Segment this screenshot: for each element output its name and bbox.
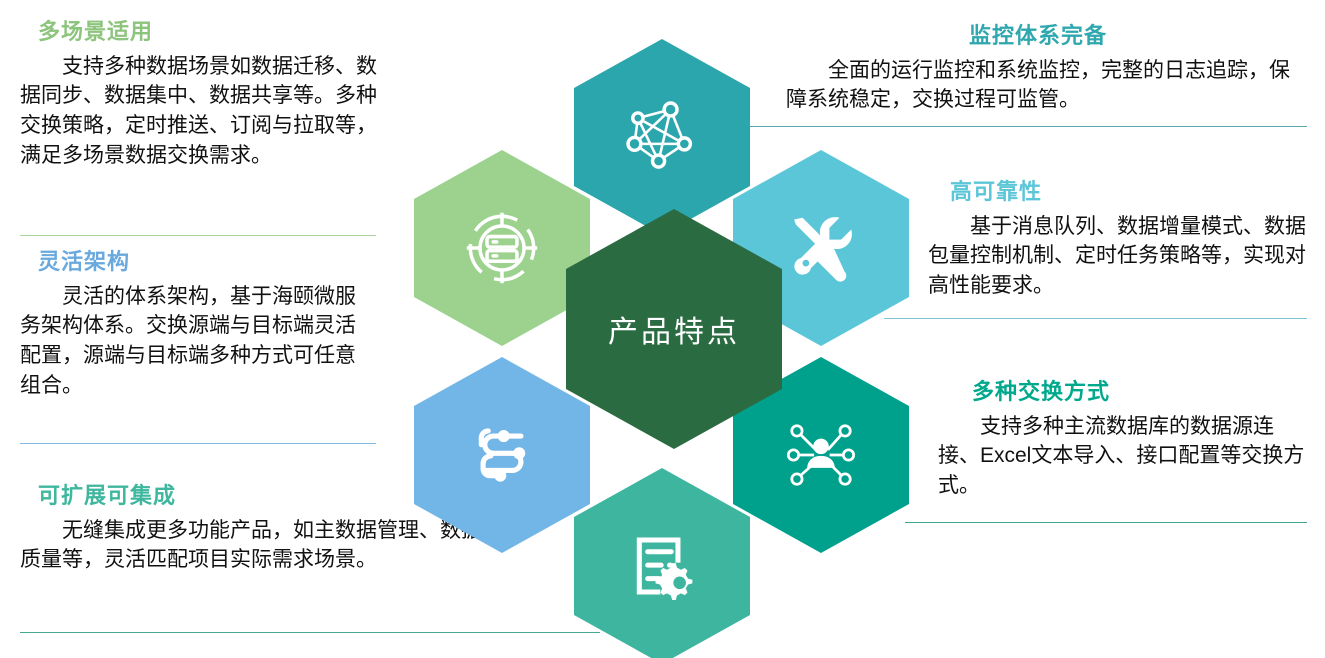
feature-block-multi-scenario: 多场景适用 支持多种数据场景如数据迁移、数据同步、数据集中、数据共享等。多种交换… (20, 18, 380, 171)
feature-body-high-reliability: 基于消息队列、数据增量模式、数据包量控制机制、定时任务策略等，实现对高性能要求。 (928, 212, 1310, 301)
feature-block-monitoring-complete: 监控体系完备 全面的运行监控和系统监控，完整的日志追踪，保障系统稳定，交换过程可… (768, 22, 1308, 115)
feature-block-flexible-architecture: 灵活架构 灵活的体系架构，基于海颐微服务架构体系。交换源端与目标端灵活配置，源端… (20, 248, 370, 401)
feature-block-multiple-exchange-modes: 多种交换方式 支持多种主流数据库的数据源连接、Excel文本导入、接口配置等交换… (960, 378, 1310, 501)
feature-body-multiple-exchange-modes: 支持多种主流数据库的数据源连接、Excel文本导入、接口配置等交换方式。 (938, 412, 1310, 501)
target-server-icon (458, 204, 546, 292)
divider-extensible-integrable (20, 632, 600, 633)
hex-tile-extensibility[interactable] (574, 468, 750, 658)
divider-flexible-architecture (20, 443, 376, 444)
hex-tile-monitoring[interactable] (574, 39, 750, 235)
divider-high-reliability (884, 318, 1307, 319)
infographic-canvas: 多场景适用 支持多种数据场景如数据迁移、数据同步、数据集中、数据共享等。多种交换… (0, 0, 1325, 658)
feature-body-flexible-architecture: 灵活的体系架构，基于海颐微服务架构体系。交换源端与目标端灵活配置，源端与目标端多… (20, 282, 370, 401)
feature-body-extensible-integrable: 无缝集成更多功能产品，如主数据管理、数据质量等，灵活匹配项目实际需求场景。 (20, 516, 490, 576)
network-graph-icon (619, 94, 705, 180)
feature-block-high-reliability: 高可靠性 基于消息队列、数据增量模式、数据包量控制机制、定时任务策略等，实现对高… (950, 178, 1310, 301)
feature-title-flexible-architecture: 灵活架构 (38, 248, 370, 276)
feature-body-monitoring-complete: 全面的运行监控和系统监控，完整的日志追踪，保障系统稳定，交换过程可监管。 (768, 56, 1308, 116)
tools-wrench-icon (779, 206, 863, 290)
document-gear-icon (620, 524, 704, 608)
feature-title-multiple-exchange-modes: 多种交换方式 (972, 378, 1310, 406)
person-network-icon (778, 412, 864, 498)
divider-multi-scenario (20, 235, 376, 236)
hex-tile-multi-scenario[interactable] (414, 150, 590, 346)
feature-body-multi-scenario: 支持多种数据场景如数据迁移、数据同步、数据集中、数据共享等。多种交换策略，定时推… (20, 52, 380, 171)
feature-title-high-reliability: 高可靠性 (950, 178, 1310, 206)
hex-center-label: 产品特点 (608, 307, 740, 351)
feature-title-multi-scenario: 多场景适用 (38, 18, 380, 46)
divider-monitoring-complete (735, 126, 1307, 127)
flow-routes-icon (459, 412, 545, 498)
divider-multiple-exchange-modes (905, 522, 1307, 523)
feature-title-monitoring-complete: 监控体系完备 (768, 22, 1308, 50)
